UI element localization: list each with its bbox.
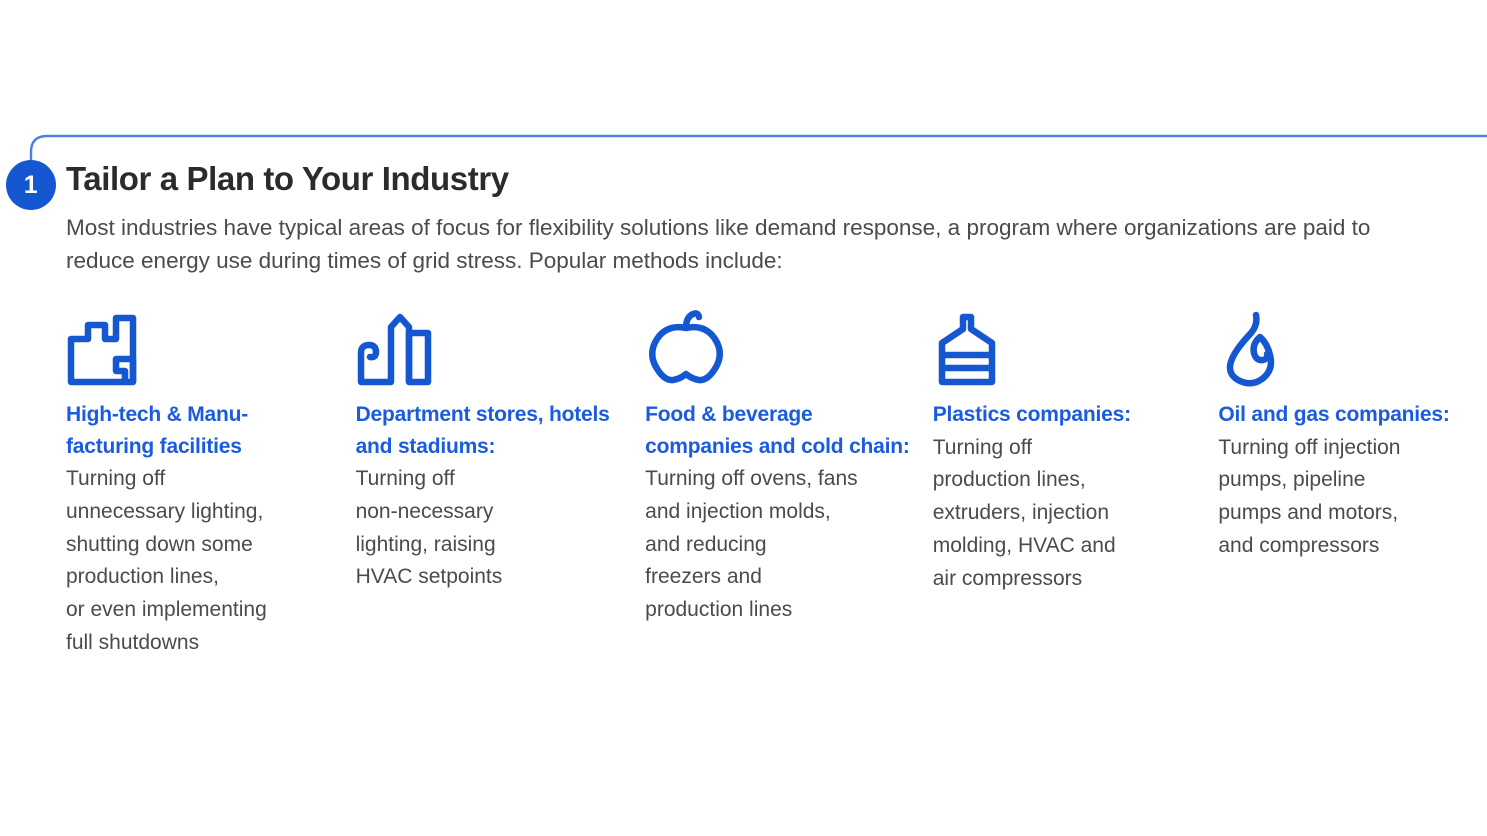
column-heading: Plastics companies: [933, 399, 1197, 431]
column-body: Turning off production lines, extruders,… [933, 432, 1197, 596]
buildings-icon [356, 305, 624, 387]
column-heading: Food & beverage companies and cold chain… [645, 399, 911, 462]
column-heading: Department stores, hotels and stadiums: [356, 399, 624, 462]
industry-columns: High-tech & Manu- facturing facilities T… [66, 305, 1476, 660]
step-number-badge: 1 [6, 160, 56, 210]
intro-paragraph: Most industries have typical areas of fo… [66, 212, 1396, 277]
column-heading: Oil and gas companies: [1218, 399, 1476, 431]
apple-icon [645, 305, 911, 387]
industry-column-oil-and-gas: Oil and gas companies: Turning off injec… [1218, 305, 1476, 563]
header-block: Tailor a Plan to Your Industry Most indu… [66, 160, 1466, 277]
column-heading: High-tech & Manu- facturing facilities [66, 399, 334, 462]
column-body: Turning off unnecessary lighting, shutti… [66, 463, 334, 660]
industry-column-food-beverage: Food & beverage companies and cold chain… [645, 305, 933, 627]
column-body: Turning off injection pumps, pipeline pu… [1218, 432, 1476, 563]
factory-icon [66, 305, 334, 387]
column-body: Turning off ovens, fans and injection mo… [645, 463, 911, 627]
bottle-icon [933, 305, 1197, 387]
industry-column-high-tech-manufacturing: High-tech & Manu- facturing facilities T… [66, 305, 356, 660]
page-title: Tailor a Plan to Your Industry [66, 160, 1466, 198]
step-number-label: 1 [24, 173, 38, 198]
column-body: Turning off non-necessary lighting, rais… [356, 463, 624, 594]
industry-column-department-stores: Department stores, hotels and stadiums: … [356, 305, 646, 594]
industry-column-plastics: Plastics companies: Turning off producti… [933, 305, 1219, 595]
flame-drop-icon [1218, 305, 1476, 387]
